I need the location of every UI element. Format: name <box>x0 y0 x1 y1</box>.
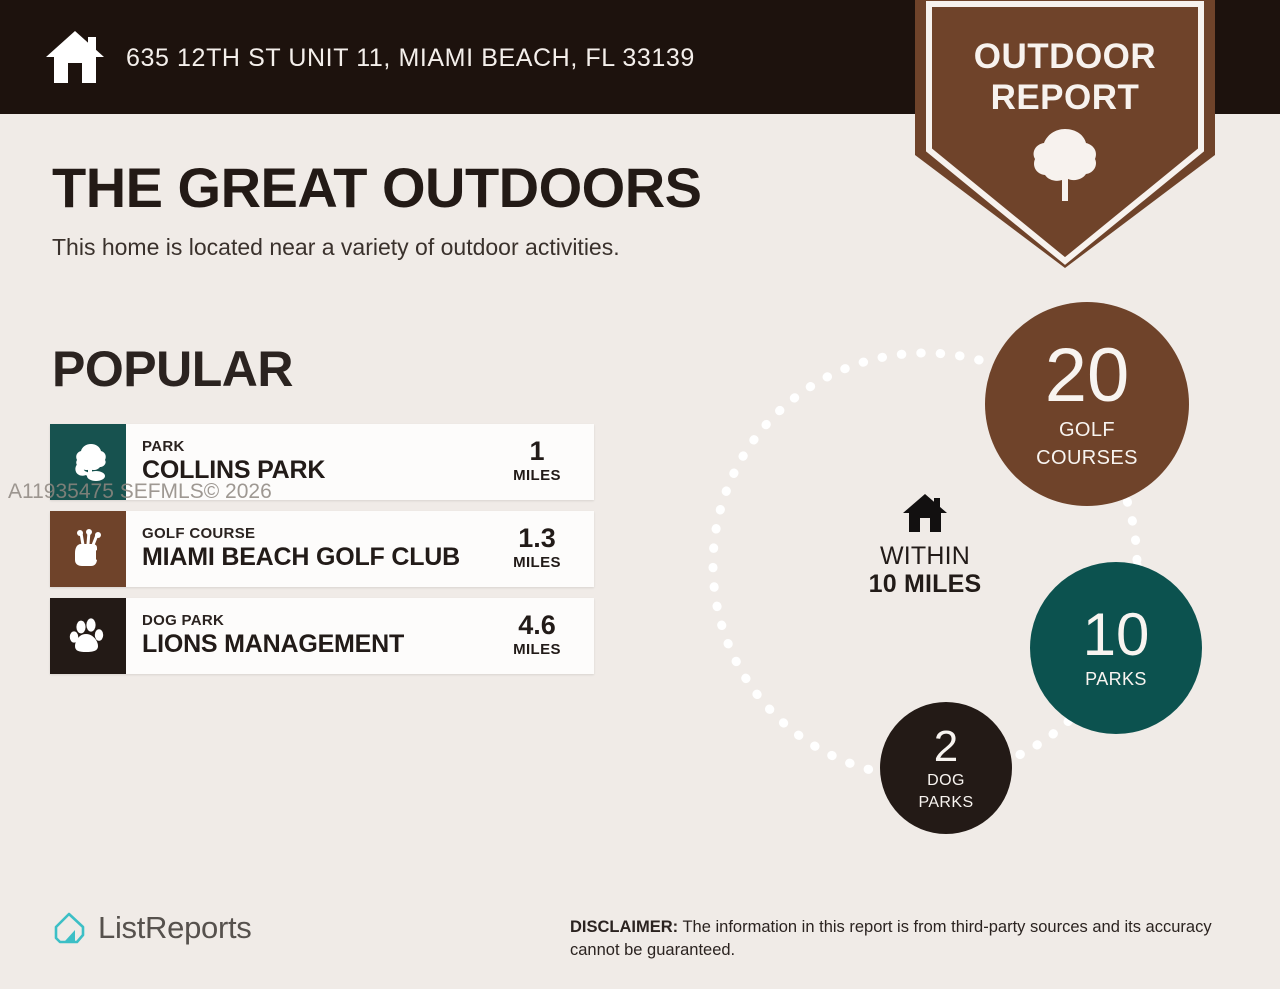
stat-circle-dog-parks[interactable]: 2 DOG PARKS <box>880 702 1012 834</box>
paw-icon <box>67 615 109 657</box>
within-line-2: 10 MILES <box>860 570 990 598</box>
disclaimer: DISCLAIMER: The information in this repo… <box>570 916 1230 963</box>
stat-label-line-1: PARKS <box>1085 670 1147 690</box>
stat-value: 10 <box>1083 606 1150 665</box>
stat-label-line-2: COURSES <box>1036 447 1138 469</box>
within-line-1: WITHIN <box>860 542 990 570</box>
page-title: THE GREAT OUTDOORS <box>52 155 702 220</box>
stat-label-line-2: PARKS <box>918 794 973 812</box>
poi-text: GOLF COURSE MIAMI BEACH GOLF CLUB <box>126 511 494 587</box>
page-subtitle: This home is located near a variety of o… <box>52 234 620 261</box>
listreports-logo-text: ListReports <box>98 910 252 946</box>
poi-distance: 4.6 MILES <box>494 598 594 674</box>
badge-line-1: OUTDOOR <box>915 37 1215 77</box>
poi-icon-tile <box>50 511 126 587</box>
poi-category: PARK <box>142 439 494 456</box>
poi-name: COLLINS PARK <box>142 456 494 485</box>
section-title-popular: POPULAR <box>52 340 293 398</box>
poi-icon-tile <box>50 598 126 674</box>
tree-icon <box>1030 125 1100 203</box>
golf-bag-icon <box>67 528 109 570</box>
poi-icon-tile <box>50 424 126 500</box>
listreports-house-icon <box>52 910 88 946</box>
popular-list: PARK COLLINS PARK 1 MILES <box>50 424 594 685</box>
within-radius-diagram: WITHIN 10 MILES 20 GOLF COURSES 10 PARKS… <box>660 280 1260 880</box>
poi-category: GOLF COURSE <box>142 526 494 543</box>
poi-distance-unit: MILES <box>513 552 561 573</box>
badge-line-2: REPORT <box>915 78 1215 118</box>
within-center-label: WITHIN 10 MILES <box>860 492 990 598</box>
outdoor-report-badge: OUTDOOR REPORT <box>915 0 1215 270</box>
home-icon <box>902 492 948 534</box>
poi-distance: 1 MILES <box>494 424 594 500</box>
stat-label-line-1: GOLF <box>1059 419 1115 441</box>
list-item[interactable]: GOLF COURSE MIAMI BEACH GOLF CLUB 1.3 MI… <box>50 511 594 587</box>
poi-distance-unit: MILES <box>513 465 561 486</box>
park-tree-icon <box>67 441 109 483</box>
stat-value: 20 <box>1045 339 1130 413</box>
list-item[interactable]: DOG PARK LIONS MANAGEMENT 4.6 MILES <box>50 598 594 674</box>
stat-circle-parks[interactable]: 10 PARKS <box>1030 562 1202 734</box>
list-item[interactable]: PARK COLLINS PARK 1 MILES <box>50 424 594 500</box>
outdoor-report-page: 635 12TH ST UNIT 11, MIAMI BEACH, FL 331… <box>0 0 1280 989</box>
stat-label-line-1: DOG <box>927 772 965 790</box>
stat-value: 2 <box>934 725 958 768</box>
poi-text: PARK COLLINS PARK <box>126 424 494 500</box>
poi-distance-unit: MILES <box>513 639 561 660</box>
poi-distance-value: 1 <box>529 438 544 465</box>
poi-distance: 1.3 MILES <box>494 511 594 587</box>
poi-name: LIONS MANAGEMENT <box>142 630 494 659</box>
poi-category: DOG PARK <box>142 613 494 630</box>
listreports-logo[interactable]: ListReports <box>52 910 252 946</box>
poi-name: MIAMI BEACH GOLF CLUB <box>142 543 494 572</box>
poi-distance-value: 1.3 <box>518 525 556 552</box>
header-address: 635 12TH ST UNIT 11, MIAMI BEACH, FL 331… <box>126 44 695 73</box>
stat-circle-golf-courses[interactable]: 20 GOLF COURSES <box>985 302 1189 506</box>
poi-text: DOG PARK LIONS MANAGEMENT <box>126 598 494 674</box>
poi-distance-value: 4.6 <box>518 612 556 639</box>
disclaimer-label: DISCLAIMER: <box>570 918 678 936</box>
home-icon <box>44 26 106 88</box>
